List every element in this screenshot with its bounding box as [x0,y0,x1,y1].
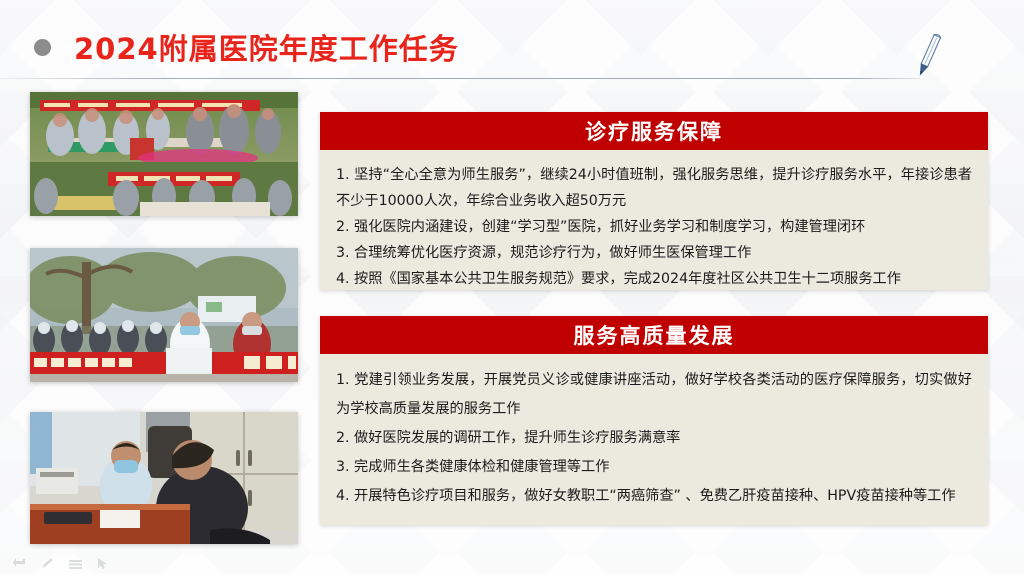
card-quality-body: 1. 党建引领业务发展，开展党员义诊或健康讲座活动，做好学校各类活动的医疗保障服… [320,354,988,521]
photo-insurance [30,248,298,382]
card-diagnosis-service: 诊疗服务保障 1. 坚持“全心全意为师生服务”，继续24小时值班制，强化服务思维… [320,112,988,290]
list-item: 4. 开展特色诊疗项目和服务，做好女教职工“两癌筛查” 、免费乙肝疫苗接种、HP… [336,482,972,511]
slide-canvas: 2024附属医院年度工作任务 [0,0,1024,574]
slide-header: 2024附属医院年度工作任务 [0,0,1024,88]
presentation-toolbar[interactable] [12,557,111,570]
header-divider [0,78,920,79]
page-title: 2024附属医院年度工作任务 [74,26,459,68]
card-diagnosis-body: 1. 坚持“全心全意为师生服务”，继续24小时值班制，强化服务思维，提升诊疗服务… [320,150,988,302]
list-item: 4. 按照《国家基本公共卫生服务规范》要求，完成2024年度社区公共卫生十二项服… [336,266,972,292]
pointer-icon[interactable] [12,557,27,570]
card-diagnosis-title: 诊疗服务保障 [585,116,723,146]
card-quality-header: 服务高质量发展 [320,316,988,354]
cursor-icon[interactable] [96,557,111,570]
card-diagnosis-header: 诊疗服务保障 [320,112,988,150]
menu-icon[interactable] [68,557,83,570]
list-item: 3. 合理统筹优化医疗资源，规范诊疗行为，做好师生医保管理工作 [336,240,972,266]
photo-health-fair [30,92,298,216]
list-item: 1. 党建引领业务发展，开展党员义诊或健康讲座活动，做好学校各类活动的医疗保障服… [336,366,972,424]
list-item: 2. 强化医院内涵建设，创建“学习型”医院，抓好业务学习和制度学习，构建管理闭环 [336,214,972,240]
list-item: 2. 做好医院发展的调研工作，提升师生诊疗服务满意率 [336,424,972,453]
list-item: 1. 坚持“全心全意为师生服务”，继续24小时值班制，强化服务思维，提升诊疗服务… [336,162,972,214]
bullet-dot-icon [34,39,51,56]
list-item: 3. 完成师生各类健康体检和健康管理等工作 [336,453,972,482]
card-quality-development: 服务高质量发展 1. 党建引领业务发展，开展党员义诊或健康讲座活动，做好学校各类… [320,316,988,525]
pen-icon[interactable] [40,557,55,570]
card-quality-title: 服务高质量发展 [574,320,735,350]
pencil-icon [908,28,948,84]
photo-consult [30,412,298,544]
